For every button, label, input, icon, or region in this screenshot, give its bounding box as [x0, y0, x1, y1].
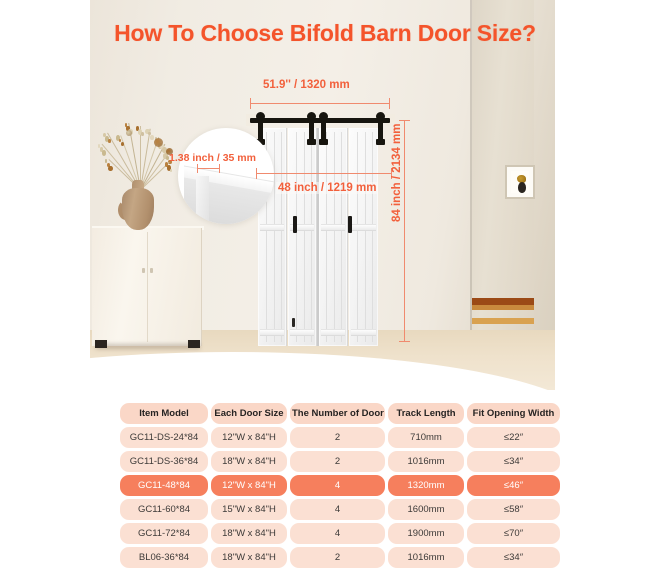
- cabinet-foot-right: [188, 340, 200, 348]
- column-header-each-door-size: Each Door Size: [211, 403, 287, 424]
- opening-width-tick-left: [256, 168, 257, 179]
- door-latch-bottom: [292, 318, 295, 327]
- cabinet-shadow: [96, 344, 200, 349]
- threshold-light: [472, 318, 534, 324]
- table-row[interactable]: GC11-DS-36*8418"W x 84"H21016mm≤34″: [120, 451, 560, 472]
- column-header-track-length: Track Length: [388, 403, 464, 424]
- thickness-tick-right: [219, 164, 220, 173]
- opening-width-label: 48 inch / 1219 mm: [276, 182, 378, 194]
- track-tick-right: [389, 98, 390, 109]
- door-panel-3: [319, 128, 348, 346]
- cabinet-door-split: [147, 232, 148, 342]
- art-detail-dark: [518, 182, 526, 193]
- cell-track-length: 1320mm: [388, 475, 464, 496]
- flower-bud: [150, 135, 154, 140]
- cell-number-of-door: 2: [290, 451, 385, 472]
- door-height-label: 84 inch / 2134 mm: [391, 124, 403, 222]
- door-fold-gap: [317, 128, 319, 346]
- cabinet-knob-left: [142, 268, 145, 273]
- opening-width-dimension-line: [256, 173, 392, 174]
- cell-number-of-door: 4: [290, 499, 385, 520]
- table-row[interactable]: GC11-60*8415"W x 84"H41600mm≤58″: [120, 499, 560, 520]
- bifold-door-assembly: [258, 118, 378, 346]
- door-panel-4: [349, 128, 378, 346]
- magnified-door-edge: [196, 176, 209, 222]
- column-header-number-of-door: The Number of Door: [290, 403, 385, 424]
- track-tick-left: [250, 98, 251, 109]
- table-row[interactable]: GC11-DS-24*8412"W x 84"H2710mm≤22″: [120, 427, 560, 448]
- cell-track-length: 1600mm: [388, 499, 464, 520]
- table-row[interactable]: GC11-48*8412"W x 84"H41320mm≤46″: [120, 475, 560, 496]
- column-header-item-model: Item Model: [120, 403, 208, 424]
- size-spec-table: Item Model Each Door Size The Number of …: [117, 400, 563, 571]
- flower-bud: [102, 150, 107, 156]
- cabinet-foot-left: [95, 340, 107, 348]
- cell-each-door-size: 18"W x 84"H: [211, 547, 287, 568]
- cell-item-model: GC11-DS-24*84: [120, 427, 208, 448]
- cell-item-model: GC11-48*84: [120, 475, 208, 496]
- door-height-tick-bottom: [399, 341, 410, 342]
- door-handle-right[interactable]: [348, 216, 352, 233]
- cabinet-knob-right: [150, 268, 153, 273]
- cell-item-model: GC11-72*84: [120, 523, 208, 544]
- cell-each-door-size: 15"W x 84"H: [211, 499, 287, 520]
- table-body: GC11-DS-24*8412"W x 84"H2710mm≤22″GC11-D…: [120, 427, 560, 568]
- threshold-mid: [472, 305, 534, 310]
- cell-each-door-size: 12"W x 84"H: [211, 475, 287, 496]
- cell-number-of-door: 2: [290, 547, 385, 568]
- cell-item-model: GC11-60*84: [120, 499, 208, 520]
- page-title: How To Choose Bifold Barn Door Size?: [0, 20, 650, 47]
- cell-fit-opening-width: ≤34″: [467, 547, 560, 568]
- cell-number-of-door: 4: [290, 523, 385, 544]
- track-hanger-3: [321, 118, 326, 142]
- column-header-fit-opening-width: Fit Opening Width: [467, 403, 560, 424]
- thickness-tick-left: [197, 164, 198, 173]
- cell-item-model: BL06-36*84: [120, 547, 208, 568]
- cell-each-door-size: 18"W x 84"H: [211, 451, 287, 472]
- table-header-row: Item Model Each Door Size The Number of …: [120, 403, 560, 424]
- door-thickness-label: 1.38 inch / 35 mm: [169, 152, 256, 164]
- cabinet: [92, 228, 202, 346]
- door-handle-left[interactable]: [293, 216, 297, 233]
- track-hanger-4: [378, 118, 383, 142]
- flower-bud: [170, 169, 173, 173]
- track-hanger-1: [258, 118, 263, 142]
- flower-bud: [108, 139, 111, 143]
- product-scene: 1.38 inch / 35 mm 51.9'' / 1320 mm 48 in…: [0, 0, 650, 390]
- cell-each-door-size: 12"W x 84"H: [211, 427, 287, 448]
- cell-number-of-door: 4: [290, 475, 385, 496]
- ceramic-vase: [122, 188, 154, 230]
- cell-track-length: 1016mm: [388, 547, 464, 568]
- framed-art: [505, 165, 535, 199]
- table-row[interactable]: GC11-72*8418"W x 84"H41900mm≤70″: [120, 523, 560, 544]
- track-length-label: 51.9'' / 1320 mm: [263, 79, 350, 91]
- flower-bud: [141, 132, 144, 136]
- recess-edge: [470, 0, 472, 330]
- door-height-tick-top: [399, 120, 410, 121]
- threshold-dark: [472, 298, 534, 305]
- door-panel-2: [288, 128, 317, 346]
- cell-fit-opening-width: ≤58″: [467, 499, 560, 520]
- track-dimension-line: [250, 103, 390, 104]
- flower-bud: [108, 166, 113, 172]
- door-height-dimension-line: [404, 120, 405, 342]
- cell-track-length: 1016mm: [388, 451, 464, 472]
- seed-head: [154, 138, 163, 147]
- cell-track-length: 710mm: [388, 427, 464, 448]
- cell-number-of-door: 2: [290, 427, 385, 448]
- infographic-page: 1.38 inch / 35 mm 51.9'' / 1320 mm 48 in…: [0, 0, 650, 581]
- seed-head: [126, 130, 132, 136]
- cell-fit-opening-width: ≤22″: [467, 427, 560, 448]
- thickness-magnifier-inset: [178, 128, 274, 224]
- cell-each-door-size: 18"W x 84"H: [211, 523, 287, 544]
- cell-fit-opening-width: ≤34″: [467, 451, 560, 472]
- cell-fit-opening-width: ≤46″: [467, 475, 560, 496]
- cell-item-model: GC11-DS-36*84: [120, 451, 208, 472]
- track-hanger-2: [309, 118, 314, 142]
- cell-track-length: 1900mm: [388, 523, 464, 544]
- table-row[interactable]: BL06-36*8418"W x 84"H21016mm≤34″: [120, 547, 560, 568]
- cell-fit-opening-width: ≤70″: [467, 523, 560, 544]
- thickness-dimension-line: [197, 168, 220, 169]
